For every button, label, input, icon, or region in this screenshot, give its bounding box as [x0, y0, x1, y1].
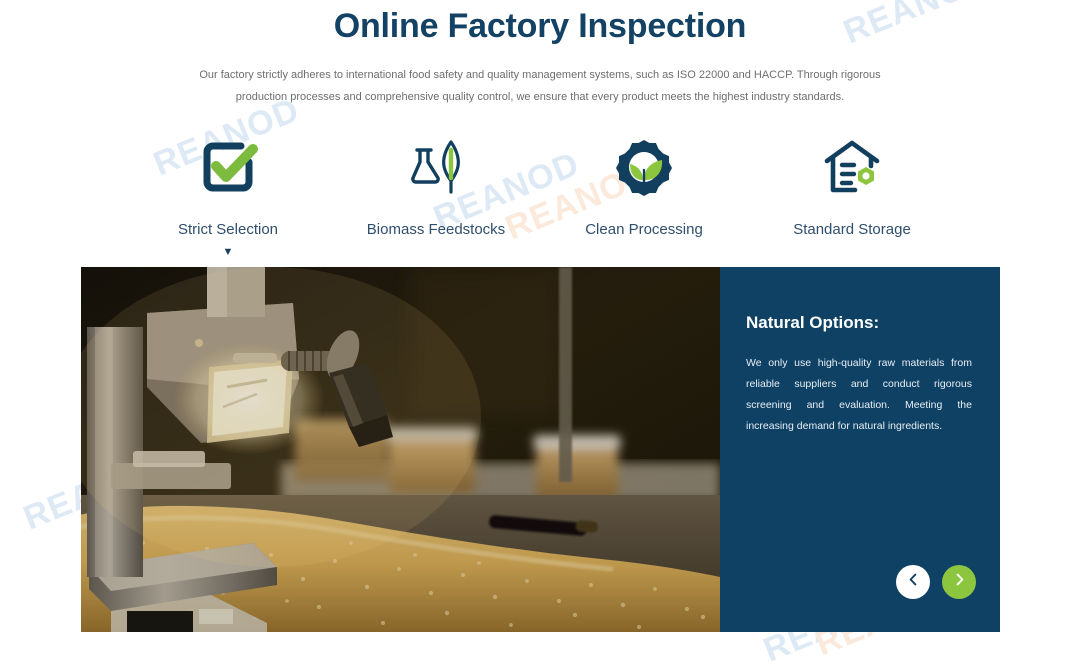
chevron-right-icon: [953, 573, 966, 591]
feature-label: Strict Selection: [124, 220, 332, 240]
gear-leaf-icon: [540, 130, 748, 204]
feature-tab-clean-processing[interactable]: Clean Processing ▼: [540, 130, 748, 259]
active-tab-caret-icon: ▼: [124, 247, 332, 259]
checkbox-check-icon: [124, 130, 332, 204]
inspection-content-card: Natural Options: We only use high-qualit…: [81, 267, 1000, 632]
page-subtitle: Our factory strictly adheres to internat…: [195, 64, 885, 108]
panel-title: Natural Options:: [746, 311, 972, 335]
feature-tab-standard-storage[interactable]: Standard Storage ▼: [748, 130, 956, 259]
feature-label: Biomass Feedstocks: [332, 220, 540, 240]
feature-tab-strict-selection[interactable]: Strict Selection ▼: [124, 130, 332, 259]
flask-leaf-icon: [332, 130, 540, 204]
feature-tabs: Strict Selection ▼ Biomass Feedstocks ▼: [0, 130, 1080, 259]
chevron-left-icon: [907, 573, 920, 591]
warehouse-gear-icon: [748, 130, 956, 204]
page-title: Online Factory Inspection: [0, 4, 1080, 48]
factory-inspection-page: REANOD REANOD REANOD REANOD REANOD REANO…: [0, 0, 1080, 667]
factory-inspection-photo: [81, 267, 720, 632]
carousel-info-panel: Natural Options: We only use high-qualit…: [720, 267, 1000, 632]
panel-description: We only use high-quality raw materials f…: [746, 353, 972, 437]
carousel-nav: [896, 565, 976, 599]
page-header: Online Factory Inspection Our factory st…: [0, 0, 1080, 108]
feature-label: Clean Processing: [540, 220, 748, 240]
carousel-prev-button[interactable]: [896, 565, 930, 599]
carousel-next-button[interactable]: [942, 565, 976, 599]
feature-tab-biomass-feedstocks[interactable]: Biomass Feedstocks ▼: [332, 130, 540, 259]
feature-label: Standard Storage: [748, 220, 956, 240]
